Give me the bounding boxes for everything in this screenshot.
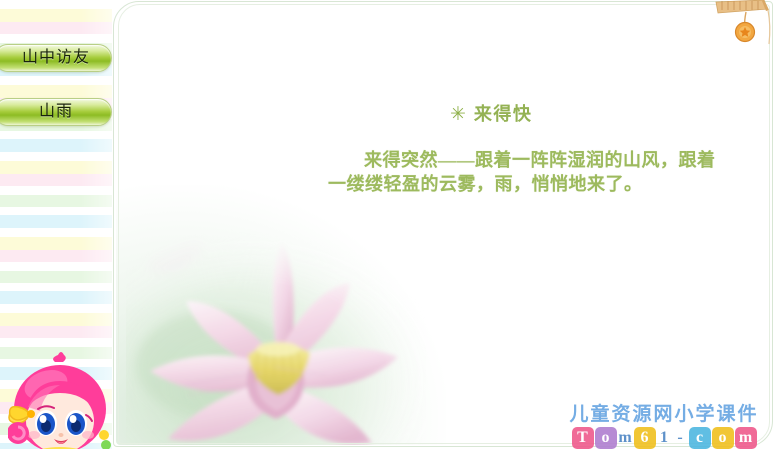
nav-label-2: 山雨: [33, 104, 73, 120]
content-panel: ✳ 来得快 来得突然——跟着一阵阵湿润的山风，跟着一缕缕轻盈的云雾，雨，悄悄地来…: [116, 2, 772, 445]
body-paragraph: 来得突然——跟着一阵阵湿润的山风，跟着一缕缕轻盈的云雾，雨，悄悄地来了。: [328, 148, 728, 196]
slide-canvas: 山中访友 山雨: [0, 0, 776, 449]
cartoon-girl-icon: [8, 349, 112, 449]
panel-wash: [116, 185, 446, 445]
lotus-flower-image: [126, 215, 426, 445]
text-block: ✳ 来得快 来得突然——跟着一阵阵湿润的山风，跟着一缕缕轻盈的云雾，雨，悄悄地来…: [328, 100, 748, 196]
nav-label-1: 山中访友: [16, 50, 90, 66]
section-heading: 来得快: [474, 100, 533, 126]
sidebar-item-shan-zhong-fang-you[interactable]: 山中访友: [0, 44, 112, 72]
asterisk-bullet-icon: ✳: [450, 105, 466, 124]
sidebar-item-shan-yu[interactable]: 山雨: [0, 98, 112, 126]
heading-row: ✳ 来得快: [450, 100, 748, 126]
